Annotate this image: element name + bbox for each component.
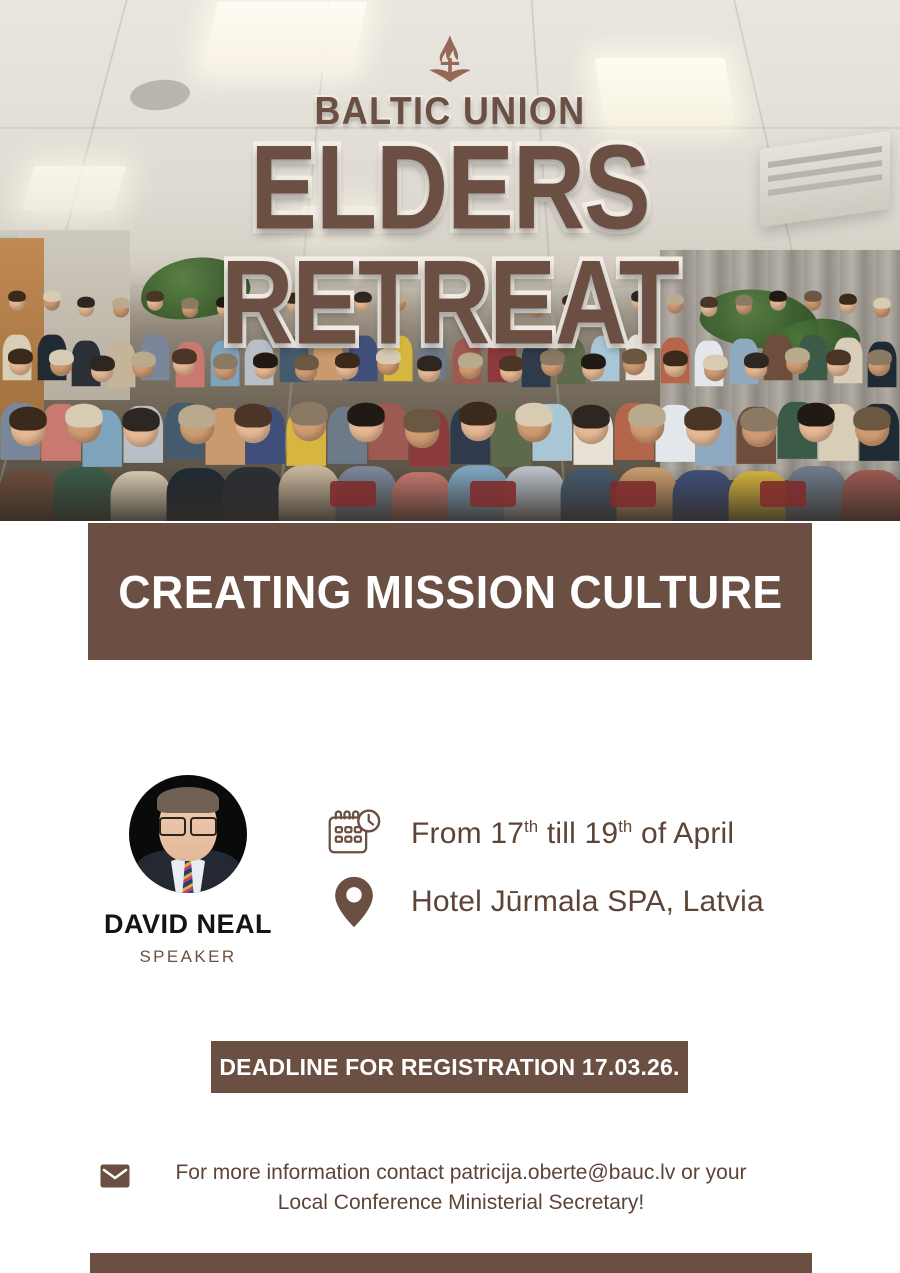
ceiling-light [595, 58, 735, 124]
attendee-hair [458, 353, 482, 368]
attendee-hair [741, 408, 778, 431]
attendee-hair [147, 290, 165, 301]
attendee-hair [666, 294, 684, 305]
attendee-hair [516, 403, 553, 426]
attendee-hair [540, 350, 564, 365]
attendee-hair [622, 349, 646, 364]
attendee-hair [66, 404, 103, 427]
envelope-icon [100, 1164, 130, 1188]
attendee-hair [458, 295, 476, 306]
attendee-hair [874, 298, 892, 309]
event-venue: Hotel Jūrmala SPA, Latvia [411, 885, 764, 919]
registration-deadline-bar: DEADLINE FOR REGISTRATION 17.03.26. [211, 1041, 688, 1093]
attendee-hair [131, 352, 155, 367]
attendee-hair [684, 407, 721, 430]
event-dates: From 17th till 19th of April [411, 817, 734, 851]
attendee-hair [804, 291, 822, 302]
attendee-hair [172, 349, 196, 364]
attendee-hair [377, 349, 401, 364]
hero-group-photo: BALTIC UNION ELDERS RETREAT [0, 0, 900, 521]
attendee-hair [181, 297, 199, 308]
avatar-glasses [159, 817, 217, 832]
contact-block: For more information contact patricija.o… [100, 1158, 800, 1218]
attendee-hair [9, 407, 46, 430]
theme-banner-text: CREATING MISSION CULTURE [118, 565, 782, 619]
attendee-hair [493, 293, 511, 304]
attendee-hair [770, 291, 788, 302]
attendee-hair [663, 350, 687, 365]
attendee-hair [581, 354, 605, 369]
speaker-role: SPEAKER [88, 947, 288, 967]
ceiling-light [22, 166, 127, 210]
location-pin-icon [325, 873, 383, 931]
attendee-hair [528, 297, 546, 308]
ceiling-light [203, 2, 367, 70]
chair [610, 481, 656, 507]
attendee-hair [797, 403, 834, 426]
attendee-hair [254, 353, 278, 368]
speaker-name: DAVID NEAL [88, 909, 288, 940]
event-poster: BALTIC UNION ELDERS RETREAT CREATING MIS… [0, 0, 900, 1273]
attendee-hair [122, 408, 159, 431]
attendee-hair [628, 404, 665, 427]
attendee-hair [867, 350, 891, 365]
contact-information: For more information contact patricija.o… [152, 1158, 800, 1218]
seventh-day-adventist-logo [427, 34, 473, 86]
attendee-hair [735, 294, 753, 305]
attendee-hair [572, 405, 609, 428]
chair [760, 481, 806, 507]
attendee-hair [631, 291, 649, 302]
attendee-hair [295, 355, 319, 370]
attendee-hair [417, 356, 441, 371]
speaker-avatar [129, 775, 247, 893]
attendee-hair [43, 291, 61, 302]
attendee-hair [827, 350, 851, 365]
calendar-clock-icon [325, 805, 383, 863]
attendee-hair [403, 409, 440, 432]
contact-line-2: Conference Ministerial Secretary! [334, 1191, 644, 1214]
attendee-hair [499, 356, 523, 371]
chair [330, 481, 376, 507]
attendee-hair [291, 402, 328, 425]
attendee-hair [49, 350, 73, 365]
attendee-hair [213, 354, 237, 369]
chair [470, 481, 516, 507]
attendee-hair [701, 297, 719, 308]
attendee-hair [90, 356, 114, 371]
ceiling-light [298, 206, 382, 234]
attendee-hair [389, 292, 407, 303]
attendee-hair [320, 291, 338, 302]
attendee-hair [597, 292, 615, 303]
attendee-hair [234, 404, 271, 427]
attendee-hair [336, 353, 360, 368]
detail-row-date: From 17th till 19th of April [325, 800, 865, 868]
attendee-hair [424, 290, 442, 301]
attendee-hair [839, 293, 857, 304]
event-details: From 17th till 19th of April Hotel Jūrma… [325, 800, 865, 936]
registration-deadline-text: DEADLINE FOR REGISTRATION 17.03.26. [219, 1054, 679, 1081]
footer-bar [90, 1253, 812, 1273]
attendee-hair [285, 293, 303, 304]
attendee-hair [562, 295, 580, 306]
attendee-hair [347, 403, 384, 426]
attendee-hair [8, 349, 32, 364]
attendee-hair [745, 353, 769, 368]
detail-row-location: Hotel Jūrmala SPA, Latvia [325, 868, 865, 936]
attendee-hair [853, 407, 890, 430]
attendee-hair [459, 402, 496, 425]
theme-banner: CREATING MISSION CULTURE [88, 523, 812, 660]
attendee-crowd [0, 271, 900, 521]
attendee-hair [704, 354, 728, 369]
attendee-hair [355, 292, 373, 303]
chair-row [0, 469, 900, 521]
attendee-hair [216, 297, 234, 308]
attendee-hair [178, 405, 215, 428]
attendee-hair [786, 348, 810, 363]
avatar-hair [157, 787, 219, 813]
attendee-hair [78, 297, 96, 308]
attendee-hair [251, 296, 269, 307]
speaker-block: DAVID NEAL SPEAKER [88, 775, 288, 967]
attendee-hair [8, 291, 26, 302]
attendee-hair [112, 298, 130, 309]
